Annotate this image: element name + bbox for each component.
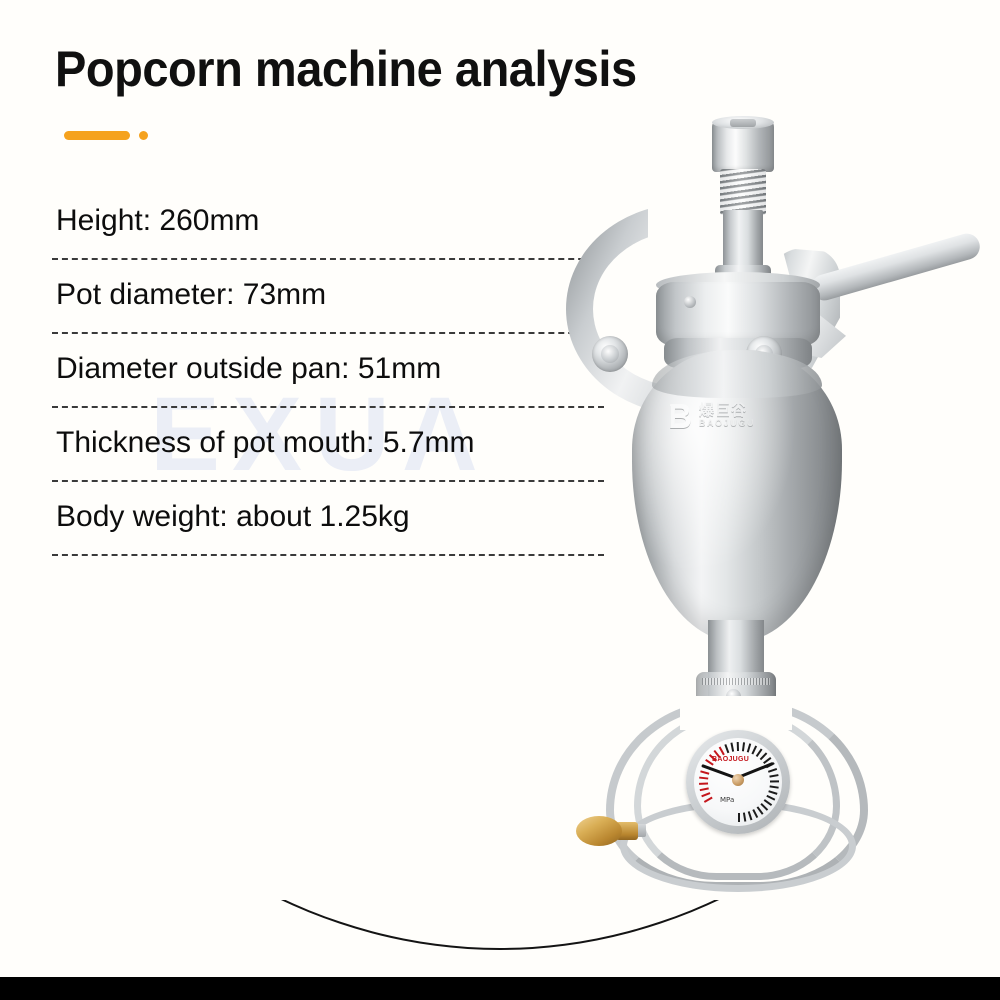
lid-pin — [684, 296, 696, 308]
list-item: Diameter outside pan: 51mm — [52, 334, 604, 408]
list-item: Body weight: about 1.25kg — [52, 482, 604, 556]
infographic-page: EXUA Popcorn machine analysis Height: 26… — [0, 0, 1000, 1000]
gauge-tick — [704, 797, 713, 803]
screw-stem — [723, 210, 763, 272]
list-item: Pot diameter: 73mm — [52, 260, 604, 334]
gauge-tick — [730, 743, 734, 752]
bottom-band — [0, 977, 1000, 1000]
gauge-tick — [766, 795, 775, 801]
product-image: B 爆巨谷 BAOJUGU BAOJUGU MPa — [560, 100, 1000, 900]
gauge-tick — [747, 743, 751, 752]
gauge-tick — [701, 792, 710, 797]
gauge-tick — [764, 799, 772, 806]
threaded-screw — [720, 169, 766, 215]
gauge-tick — [700, 770, 709, 774]
spec-divider — [52, 554, 604, 556]
gauge-tick — [760, 803, 768, 811]
gauge-tick — [719, 747, 725, 756]
lid-puck — [656, 282, 820, 346]
spec-label: Diameter outside pan: 51mm — [52, 334, 604, 406]
list-item: Height: 260mm — [52, 186, 604, 260]
accent-dot — [139, 131, 148, 140]
gauge-tick — [768, 790, 777, 795]
spec-label: Pot diameter: 73mm — [52, 260, 604, 332]
gauge-tick — [724, 744, 729, 753]
specification-list: Height: 260mm Pot diameter: 73mm Diamete… — [52, 186, 604, 556]
logo-monogram: B — [668, 400, 692, 433]
gauge-tick — [748, 811, 753, 820]
gauge-tick — [699, 782, 708, 784]
gauge-tick — [737, 742, 739, 751]
gauge-hub — [732, 774, 744, 786]
spec-label: Body weight: about 1.25kg — [52, 482, 604, 554]
title-accent — [64, 131, 148, 140]
gauge-tick — [700, 787, 709, 791]
spec-label: Height: 260mm — [52, 186, 604, 258]
pivot-bolt — [592, 336, 628, 372]
gauge-tick — [769, 774, 778, 778]
accent-bar — [64, 131, 130, 140]
gauge-tick — [770, 780, 779, 782]
page-title: Popcorn machine analysis — [55, 40, 637, 98]
logo-latin-text: BAOJUGU — [699, 419, 755, 428]
logo-wordmark: 爆巨谷 BAOJUGU — [699, 403, 755, 428]
gauge-tick — [757, 806, 764, 814]
brand-logo: B 爆巨谷 BAOJUGU — [668, 396, 794, 436]
spec-label: Thickness of pot mouth: 5.7mm — [52, 408, 604, 480]
gauge-tick — [742, 742, 745, 751]
gauge-tick — [752, 809, 758, 818]
gauge-brand-text: BAOJUGU — [712, 756, 749, 763]
logo-chinese-text: 爆巨谷 — [699, 403, 755, 419]
gauge-unit-text: MPa — [720, 796, 734, 804]
gauge-tick — [743, 812, 746, 821]
brass-safety-valve — [576, 816, 622, 846]
gauge-tick — [738, 813, 740, 822]
gauge-tick — [699, 777, 708, 780]
list-item: Thickness of pot mouth: 5.7mm — [52, 408, 604, 482]
gauge-tick — [770, 785, 779, 788]
collar-knurl — [702, 678, 770, 685]
cap-hex-socket — [730, 119, 756, 127]
gauge-tick — [768, 768, 777, 773]
stand-mask — [680, 696, 792, 730]
